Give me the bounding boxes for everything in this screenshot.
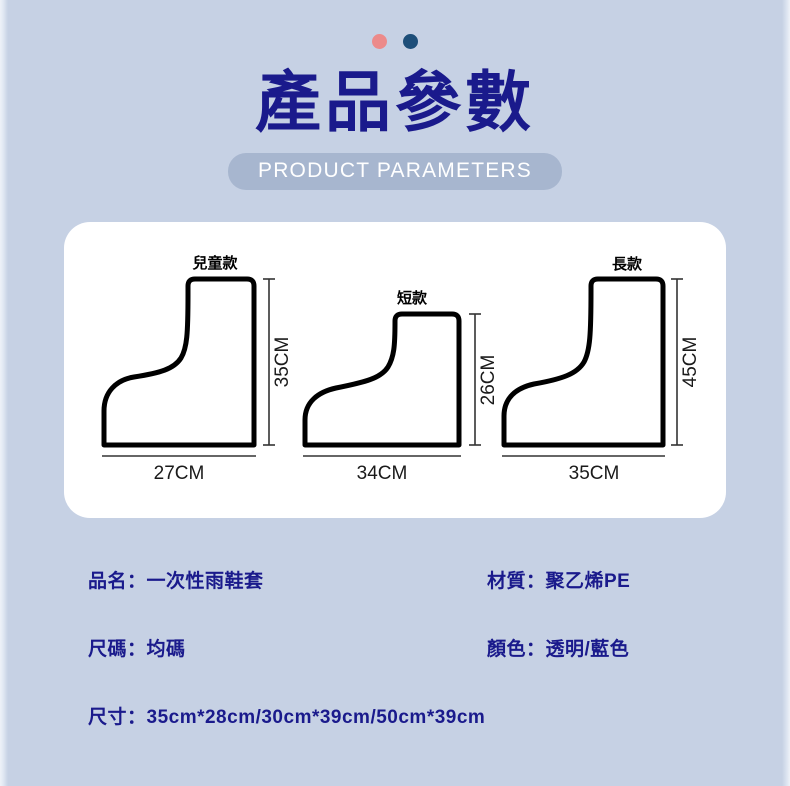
spec-row-3: 尺寸：35cm*28cm/30cm*39cm/50cm*39cm [0,702,790,770]
pink-dot-icon [372,34,387,49]
boot-diagram-2: 短款 26CM 34CM [303,289,499,484]
spec-list: 品名：一次性雨鞋套 材質：聚乙烯PE 尺碼：均碼 顏色：透明/藍色 尺寸：35c… [0,566,790,770]
boot-2-height-text: 26CM [478,355,499,406]
boot-2-label: 短款 [397,289,428,307]
spec-dimensions: 尺寸：35cm*28cm/30cm*39cm/50cm*39cm [88,702,485,729]
spec-size-code: 尺碼：均碼 [88,634,186,661]
decorative-dots [0,34,790,49]
subtitle-badge: PRODUCT PARAMETERS [228,153,562,190]
boot-3-height-text: 45CM [680,337,701,388]
page-title: 產品參數 [0,62,790,142]
spec-row-1: 品名：一次性雨鞋套 材質：聚乙烯PE [0,566,790,634]
spec-product-name: 品名：一次性雨鞋套 [88,566,264,593]
boot-1-width-text: 27CM [154,463,205,484]
boot-2-outline [305,314,459,445]
boot-1-height-text: 35CM [272,337,293,388]
boot-3-label: 長款 [612,255,643,273]
diagram-card: 兒童款 35CM 27CM 短款 26CM 34 [64,222,726,518]
boot-diagram-1: 兒童款 35CM 27CM [102,254,293,484]
spec-color: 顏色：透明/藍色 [487,634,629,661]
boot-2-width-text: 34CM [357,463,408,484]
spec-material: 材質：聚乙烯PE [487,566,630,593]
subtitle-container: PRODUCT PARAMETERS [0,153,790,190]
navy-dot-icon [403,34,418,49]
boot-diagram-3: 長款 45CM 35CM [502,255,701,484]
poster-background: 產品參數 PRODUCT PARAMETERS 兒童款 35CM 27CM 短款 [0,0,790,786]
boot-1-outline [104,279,254,445]
boot-3-outline [504,279,663,445]
boot-3-width-text: 35CM [569,463,620,484]
boot-diagrams: 兒童款 35CM 27CM 短款 26CM 34 [64,222,726,518]
boot-1-label: 兒童款 [192,254,238,272]
spec-row-2: 尺碼：均碼 顏色：透明/藍色 [0,634,790,702]
